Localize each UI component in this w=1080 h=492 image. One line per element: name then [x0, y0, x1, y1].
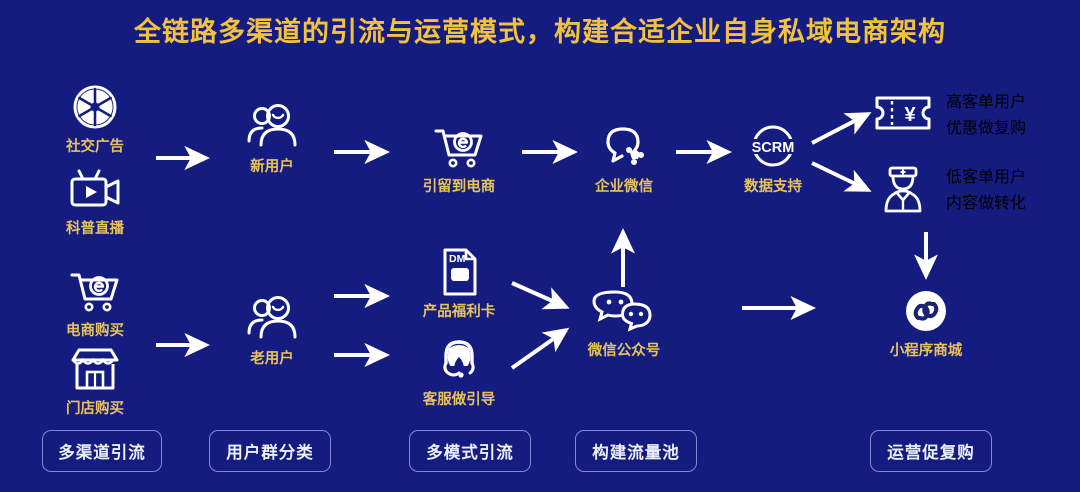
- storefront-icon: [35, 340, 155, 398]
- pill-operate-repurchase[interactable]: 运营促复购: [870, 430, 992, 472]
- video-camera-icon: [35, 160, 155, 218]
- node-social-ads[interactable]: 社交广告: [35, 78, 155, 156]
- pill-build-traffic-pool[interactable]: 构建流量池: [575, 430, 697, 472]
- node-label: 产品福利卡: [396, 304, 522, 321]
- node-scrm[interactable]: SCRM 数据支持: [718, 118, 828, 196]
- node-old-user[interactable]: 老用户: [212, 290, 332, 368]
- shopping-cart-e-icon: [35, 262, 155, 320]
- node-label: 新用户: [212, 159, 332, 176]
- node-new-user[interactable]: 新用户: [212, 98, 332, 176]
- node-label: 老用户: [212, 351, 332, 368]
- node-label: 门店购买: [35, 401, 155, 418]
- wechat-bubbles-icon: [558, 282, 690, 340]
- wecom-bubble-icon: [565, 118, 683, 176]
- diagram-canvas: 全链路多渠道的引流与运营模式，构建合适企业自身私域电商架构: [0, 0, 1080, 492]
- node-benefit-card[interactable]: DM 产品福利卡: [396, 243, 522, 321]
- coupon-yen-icon: ¥: [872, 90, 934, 136]
- dm-icon-text: DM: [449, 253, 466, 265]
- node-label: 引留到电商: [396, 179, 522, 196]
- node-high-value[interactable]: ¥ 高客单用户 优惠做复购: [872, 88, 1077, 138]
- node-label: 电商购买: [35, 323, 155, 340]
- node-label: 数据支持: [718, 179, 828, 196]
- node-label-line1: 高客单用户: [946, 88, 1026, 112]
- connector-arrows: [0, 0, 1080, 492]
- node-science-live[interactable]: 科普直播: [35, 160, 155, 238]
- node-label-line2: 优惠做复购: [946, 114, 1026, 138]
- two-users-icon: [212, 98, 332, 156]
- scrm-circle-icon: SCRM: [718, 118, 828, 176]
- pill-user-segmentation[interactable]: 用户群分类: [209, 430, 331, 472]
- wechat-miniprogram-icon: [866, 282, 986, 340]
- node-label: 科普直播: [35, 221, 155, 238]
- node-label: 企业微信: [565, 179, 683, 196]
- node-label-line1: 低客单用户: [946, 163, 1026, 187]
- node-wechat-official[interactable]: 微信公众号: [558, 282, 690, 360]
- node-to-ecommerce[interactable]: 引留到电商: [396, 118, 522, 196]
- node-label: 微信公众号: [558, 343, 690, 360]
- node-label-line2: 内容做转化: [946, 189, 1026, 213]
- shopping-cart-e-icon: [396, 118, 522, 176]
- node-label: 客服做引导: [396, 392, 522, 409]
- scrm-icon-text: SCRM: [752, 140, 795, 156]
- two-users-icon: [212, 290, 332, 348]
- pill-multi-channel-traffic[interactable]: 多渠道引流: [42, 430, 162, 472]
- node-store-purchase[interactable]: 门店购买: [35, 340, 155, 418]
- pill-multi-mode-traffic[interactable]: 多模式引流: [409, 430, 531, 472]
- doctor-icon: [872, 162, 934, 214]
- dm-document-icon: DM: [396, 243, 522, 301]
- node-label: 社交广告: [35, 139, 155, 156]
- node-label: 小程序商城: [866, 343, 986, 360]
- aperture-icon: [35, 78, 155, 136]
- node-low-value[interactable]: 低客单用户 内容做转化: [872, 162, 1077, 214]
- node-ecom-purchase[interactable]: 电商购买: [35, 262, 155, 340]
- node-mini-program[interactable]: 小程序商城: [866, 282, 986, 360]
- node-wecom[interactable]: 企业微信: [565, 118, 683, 196]
- node-service-guide[interactable]: 客服做引导: [396, 331, 522, 409]
- headset-agent-icon: [396, 331, 522, 389]
- coupon-currency-text: ¥: [904, 104, 916, 126]
